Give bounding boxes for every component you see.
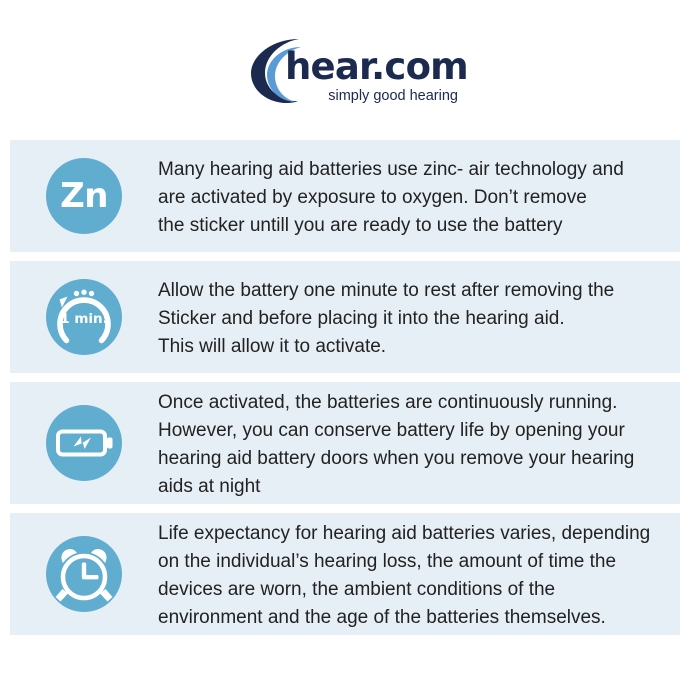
icon-cell [10,382,158,504]
tip-text: Many hearing aid batteries use zinc- air… [158,156,624,240]
tips-panel-list: Zn Many hearing aid batteries use zinc- … [0,140,690,644]
tip-text-line: the sticker untill you are ready to use … [158,212,624,240]
logo-text-block: hear.com simply good hearing [285,47,460,105]
zn-icon-label: Zn [60,179,108,213]
logo-wordmark: hear.com [285,47,460,87]
tip-text: Life expectancy for hearing aid batterie… [158,520,650,632]
icon-cell [10,513,158,635]
tip-text-line: Allow the battery one minute to rest aft… [158,277,614,305]
battery-charge-icon [46,405,122,481]
tip-text-line: Many hearing aid batteries use zinc- air… [158,156,624,184]
one-minute-timer-icon: 1 min. [46,279,122,355]
text-cell: Allow the battery one minute to rest aft… [158,261,680,375]
tip-text-line: environment and the age of the batteries… [158,604,650,632]
alarm-clock-icon [46,536,122,612]
icon-cell: Zn [10,140,158,252]
icon-cell: 1 min. [10,261,158,373]
tip-text-line: Once activated, the batteries are contin… [158,389,634,417]
tip-panel: Zn Many hearing aid batteries use zinc- … [10,140,680,252]
tip-panel: Once activated, the batteries are contin… [10,382,680,504]
timer-icon-label: 1 min. [60,311,108,327]
zn-element-icon: Zn [46,158,122,234]
logo-tagline: simply good hearing [285,87,460,105]
tip-text-line: aids at night [158,473,634,501]
tip-text-line: hearing aid battery doors when you remov… [158,445,634,473]
tip-text-line: Sticker and before placing it into the h… [158,305,614,333]
text-cell: Life expectancy for hearing aid batterie… [158,513,680,637]
tip-text: Allow the battery one minute to rest aft… [158,277,614,361]
tip-text-line: This will allow it to activate. [158,333,614,361]
tip-panel: 1 min. Allow the battery one minute to r… [10,261,680,373]
tip-panel: Life expectancy for hearing aid batterie… [10,513,680,635]
text-cell: Once activated, the batteries are contin… [158,382,680,506]
tip-text-line: However, you can conserve battery life b… [158,417,634,445]
tip-text: Once activated, the batteries are contin… [158,389,634,501]
tip-text-line: are activated by exposure to oxygen. Don… [158,184,624,212]
brand-logo: hear.com simply good hearing [241,33,456,115]
tip-text-line: on the individual’s hearing loss, the am… [158,548,650,576]
text-cell: Many hearing aid batteries use zinc- air… [158,140,680,254]
header: hear.com simply good hearing [0,0,690,140]
infographic-page: hear.com simply good hearing Zn Many hea… [0,0,690,700]
tip-text-line: Life expectancy for hearing aid batterie… [158,520,650,548]
tip-text-line: devices are worn, the ambient conditions… [158,576,650,604]
